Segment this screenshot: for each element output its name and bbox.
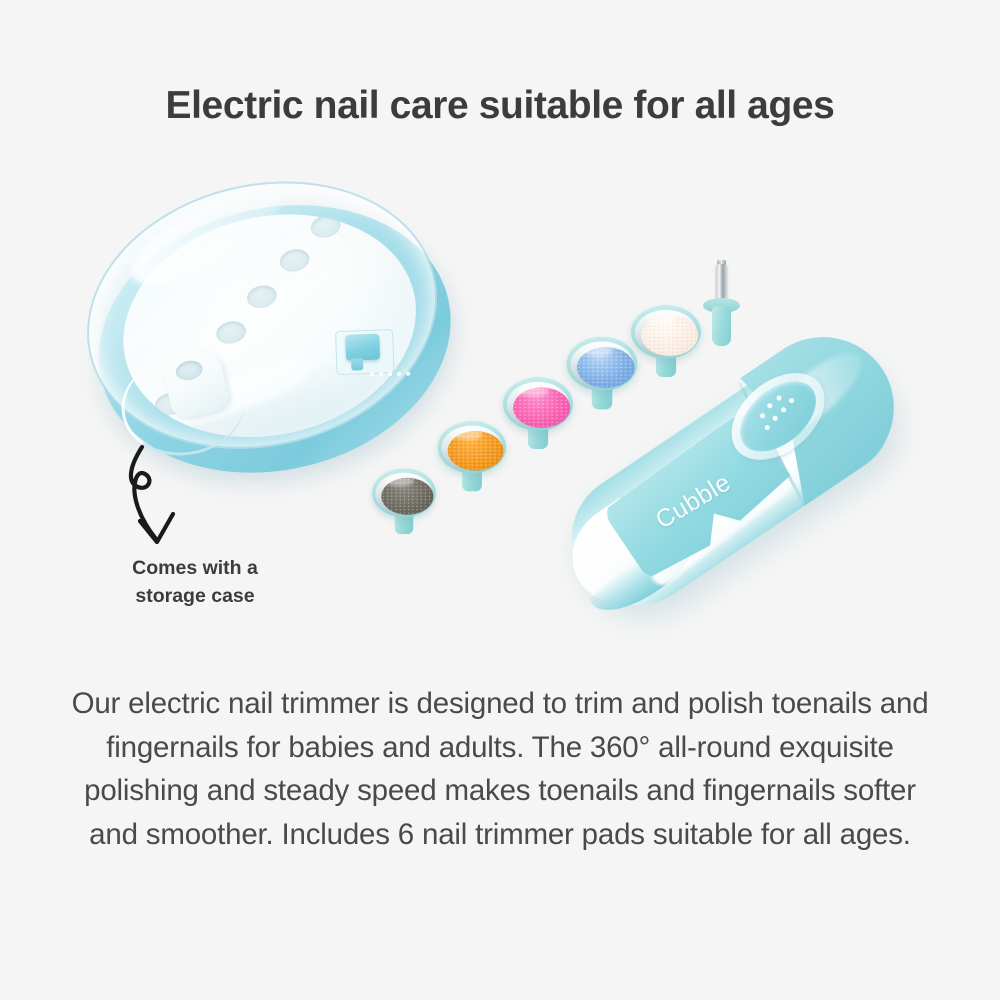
pad-metal-ring [441,426,502,471]
callout-line-2: storage case [40,583,350,611]
led-indicator [788,397,795,404]
transparent-lid [60,148,464,483]
pad-disc [567,337,638,391]
latch-foot [351,358,363,370]
led-indicator [764,424,771,431]
pad-metal-ring [375,473,432,515]
product-infographic: Electric nail care suitable for all ages [0,0,1000,1000]
latch-tab [345,334,380,361]
curly-arrow-icon [112,443,222,551]
latch-clip [341,333,386,369]
pad-highlight [386,476,415,486]
pad-metal-ring [635,310,698,356]
body-paragraph: Our electric nail trimmer is designed to… [62,682,938,857]
led-indicator [780,406,787,413]
pad-highlight [582,345,614,356]
pad-disc [503,377,573,430]
pad-metal-ring [507,382,570,428]
led-indicator [775,395,782,402]
callout-line-1: Comes with a [40,555,350,583]
led-indicator [766,402,773,409]
pad-highlight [452,429,483,440]
pad-highlight [518,386,549,397]
pad-metal-ring [570,342,633,389]
pink-pad [503,375,573,454]
pad-disc [438,421,506,473]
pad-highlight [646,314,677,325]
pad-disc [372,469,436,518]
product-photo-stage: Cubble Comes with a storage case [0,160,1000,660]
page-title: Electric nail care suitable for all ages [0,84,1000,129]
orange-pad [438,419,506,496]
grit-pad [372,467,436,539]
led-indicator [759,412,766,419]
callout-label: Comes with a storage case [40,555,350,610]
led-indicator [772,415,779,422]
pad-disc [631,305,701,358]
vent-dot-row [370,372,418,381]
lid-highlight [119,172,293,302]
